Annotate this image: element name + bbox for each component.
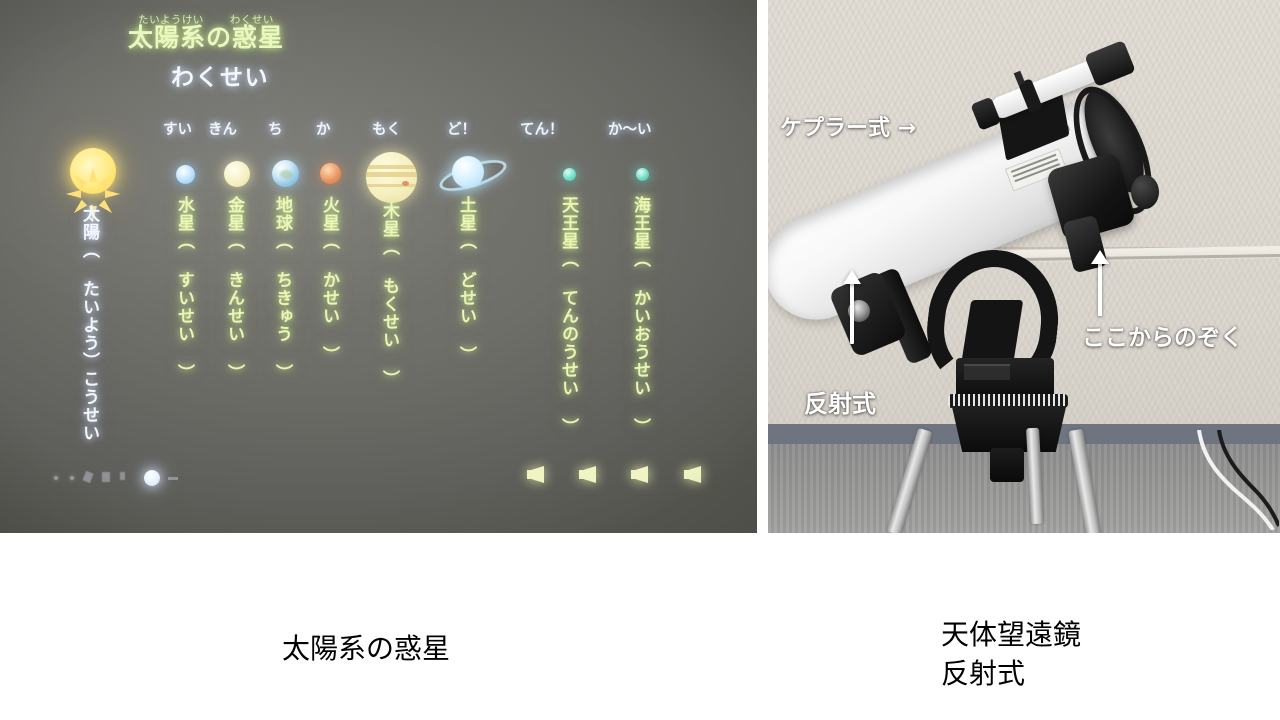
mercury-icon [176,165,195,184]
kepler-annotation: ケプラー式 → [780,110,916,142]
mnemonic-moku: もく [372,118,401,139]
left-caption: 太陽系の惑星 [282,630,450,669]
slide-control-strip[interactable] [52,468,182,490]
label-earth: 地球（ ちきゅう ） [272,196,291,382]
mount-plate [964,364,1010,380]
speaker-icon[interactable] [631,466,650,483]
neptune-icon [636,168,649,181]
mnemonic-chi: ち [268,118,283,139]
speaker-icon[interactable] [684,466,703,483]
page-root: たいようけい わくせい 太陽系の惑星 わくせい すい きん ち か もく ど！ … [0,0,1280,720]
uranus-icon [563,168,576,181]
slide-title-block: たいようけい わくせい 太陽系の惑星 [96,12,316,51]
mars-icon [320,163,341,184]
azimuth-scale [948,394,1068,408]
label-venus: 金星（ きんせい ） [224,196,243,382]
reflector-annotation: 反射式 [804,384,876,419]
mnemonic-do: ど！ [447,118,476,139]
mnemonic-ten: てん！ [520,118,564,139]
label-uranus: 天王星（ てんのうせい ） [558,196,577,436]
mnemonic-sui: すい [163,118,192,139]
saturn-icon [452,156,484,188]
mount-body [944,406,1074,452]
speaker-icon[interactable] [527,466,546,483]
solar-system-slide-photo: たいようけい わくせい 太陽系の惑星 わくせい すい きん ち か もく ど！ … [0,0,757,533]
power-cable [1193,430,1279,530]
control-small-icon[interactable] [120,472,125,480]
focus-knob [1131,175,1159,209]
control-dot-icon[interactable] [70,476,74,480]
control-highlight-icon[interactable] [144,470,160,486]
venus-icon [224,161,250,187]
slide-title: 太陽系の惑星 [96,25,316,51]
control-dash-icon[interactable] [168,477,178,480]
right-caption: 天体望遠鏡 反射式 [941,616,1081,693]
speaker-icon[interactable] [579,466,598,483]
label-mercury: 水星（ すいせい ） [174,196,193,382]
slide-subtitle: わくせい [150,58,290,92]
mnemonic-row: すい きん ち か もく ど！ てん！ か〜い [0,118,757,140]
reflector-arrow-icon [850,282,854,344]
label-saturn: 土星（ どせい ） [456,196,475,364]
right-caption-line2: 反射式 [941,655,1081,694]
label-jupiter: 木星（ もくせい ） [379,202,398,388]
earth-icon [272,160,299,187]
label-mars: 火星（ かせい ） [319,196,338,364]
mnemonic-ka: か [316,118,331,139]
jupiter-icon [366,152,417,203]
eyepiece-arrow-icon [1098,262,1102,316]
control-square-icon[interactable] [102,472,110,482]
right-caption-line1: 天体望遠鏡 [941,616,1081,655]
label-sun: 太陽（ たいよう）こうせい [79,205,98,442]
mount-center-post [990,448,1024,482]
eyepiece-annotation: ここからのぞく [1082,318,1243,352]
sun-icon [70,148,116,194]
mnemonic-kai: か〜い [608,118,652,139]
label-neptune: 海王星（ かいおうせい ） [630,196,649,436]
control-pen-icon[interactable] [82,471,93,483]
telescope-photo: ケプラー式 → 反射式 ここからのぞく [768,0,1280,533]
control-dot-icon[interactable] [54,476,58,480]
mnemonic-kin: きん [208,118,237,139]
